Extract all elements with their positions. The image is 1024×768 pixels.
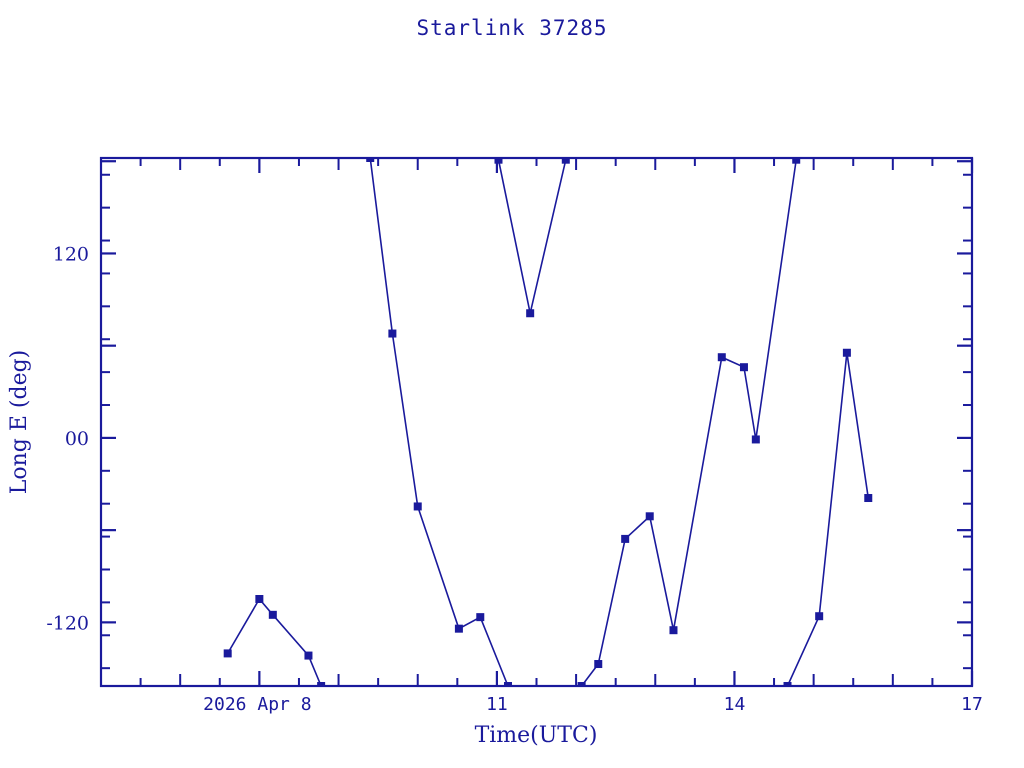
y-tick-label: 00 — [65, 428, 89, 450]
data-point-marker — [843, 349, 850, 356]
data-point-marker — [367, 155, 374, 162]
x-tick-label: 2026 Apr 8 — [203, 694, 311, 715]
y-axis-tick-labels: 12000-120 — [46, 243, 89, 634]
x-axis-major-ticks — [259, 158, 972, 686]
y-axis-title: Long E (deg) — [7, 350, 32, 495]
series-segment — [370, 158, 508, 686]
x-axis-tick-labels: 2026 Apr 8111417 — [203, 694, 983, 715]
data-point-marker — [865, 495, 872, 502]
data-point-marker — [477, 614, 484, 621]
x-tick-label: 14 — [724, 694, 746, 715]
data-point-marker — [389, 330, 396, 337]
series-segment — [582, 160, 797, 686]
series-segment — [788, 353, 869, 686]
data-point-marker — [578, 683, 585, 690]
data-point-marker — [318, 683, 325, 690]
x-axis-minor-ticks — [141, 158, 933, 686]
x-tick-label: 17 — [961, 694, 983, 715]
data-point-marker — [414, 503, 421, 510]
data-point-marker — [670, 627, 677, 634]
data-point-marker — [740, 364, 747, 371]
y-axis-minor-ticks — [101, 175, 972, 668]
x-tick-label: 11 — [486, 694, 508, 715]
data-point-marker — [784, 683, 791, 690]
data-point-marker — [224, 650, 231, 657]
x-axis-title: Time(UTC) — [475, 723, 598, 748]
plot-area: 12000-120 2026 Apr 8111417 Time(UTC) Lon… — [0, 0, 1024, 768]
y-axis-major-ticks — [101, 161, 972, 622]
data-point-marker — [622, 535, 629, 542]
data-point-marker — [646, 513, 653, 520]
data-series-line — [228, 158, 869, 686]
data-point-marker — [256, 596, 263, 603]
data-point-marker — [305, 652, 312, 659]
data-point-marker — [718, 354, 725, 361]
data-point-marker — [269, 611, 276, 618]
data-point-marker — [455, 625, 462, 632]
data-point-marker — [816, 613, 823, 620]
plot-frame — [101, 158, 972, 686]
data-point-marker — [595, 661, 602, 668]
data-point-marker — [527, 310, 534, 317]
y-tick-label: 120 — [53, 243, 89, 265]
data-point-marker — [752, 436, 759, 443]
data-point-marker — [504, 683, 511, 690]
chart-canvas: Starlink 37285 12000-120 2026 Apr 811141… — [0, 0, 1024, 768]
y-tick-label: -120 — [46, 612, 89, 634]
series-segment — [498, 160, 565, 314]
